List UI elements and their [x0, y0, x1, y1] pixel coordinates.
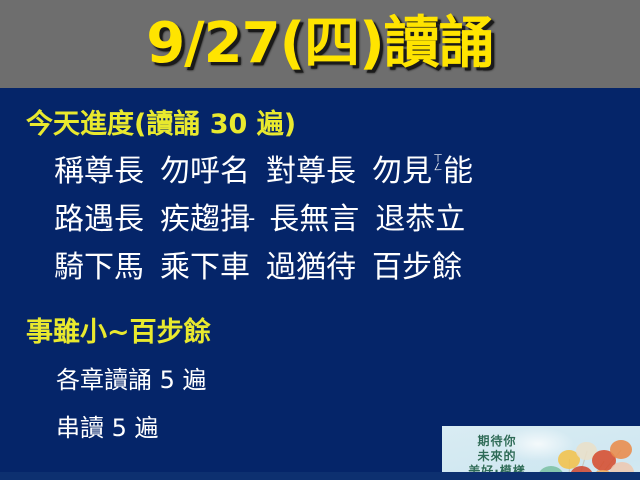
sutra-segment: 勿見	[372, 146, 432, 190]
presentation-slide: 9/27(四)讀誦 今天進度(讀誦 30 遍) 稱尊長勿呼名對尊長勿見ㄒㄥ能 路…	[0, 0, 640, 480]
sutra-line-3: 騎下馬乘下車過猶待百步餘	[54, 242, 462, 286]
slide-body: 今天進度(讀誦 30 遍) 稱尊長勿呼名對尊長勿見ㄒㄥ能 路遇長疾趨揖-長無言退…	[0, 88, 640, 472]
sutra-segment: 勿呼名	[160, 146, 250, 190]
sutra-line-2: 路遇長疾趨揖-長無言退恭立	[54, 194, 465, 238]
sutra-segment: 對尊長	[266, 146, 356, 190]
slide-title: 9/27(四)讀誦	[0, 2, 640, 86]
balloon	[610, 440, 632, 459]
slide-bottom-strip	[0, 472, 640, 480]
zhuyin-annotation: ㄒㄥ	[432, 154, 443, 189]
sutra-segment: 疾趨揖	[160, 194, 250, 238]
task-line-continuous-reading: 串讀 5 遍	[56, 408, 159, 443]
sutra-segment: 稱尊長	[54, 146, 144, 190]
zhuyin-char-2: ㄥ	[433, 164, 443, 173]
sutra-segment: 退恭立	[375, 194, 465, 238]
book-title-line: 未來的	[451, 449, 543, 464]
sutra-segment: 長無言	[269, 194, 359, 238]
slide-header-band: 9/27(四)讀誦	[0, 0, 640, 88]
sutra-segment: 百步餘	[372, 242, 462, 286]
sutra-segment: 路遇長	[54, 194, 144, 238]
dash-mark: -	[248, 206, 255, 230]
sutra-segment: 騎下馬	[54, 242, 144, 286]
sutra-segment: 乘下車	[160, 242, 250, 286]
today-progress-heading: 今天進度(讀誦 30 遍)	[26, 102, 296, 141]
summary-range-heading: 事雖小~百步餘	[26, 310, 211, 349]
task-line-chapter-reading: 各章讀誦 5 遍	[56, 360, 207, 395]
sutra-segment: 過猶待	[266, 242, 356, 286]
book-title-line: 期待你	[451, 434, 543, 449]
sutra-line-1: 稱尊長勿呼名對尊長勿見ㄒㄥ能	[54, 146, 473, 190]
sutra-tail-char: 能	[443, 146, 473, 190]
